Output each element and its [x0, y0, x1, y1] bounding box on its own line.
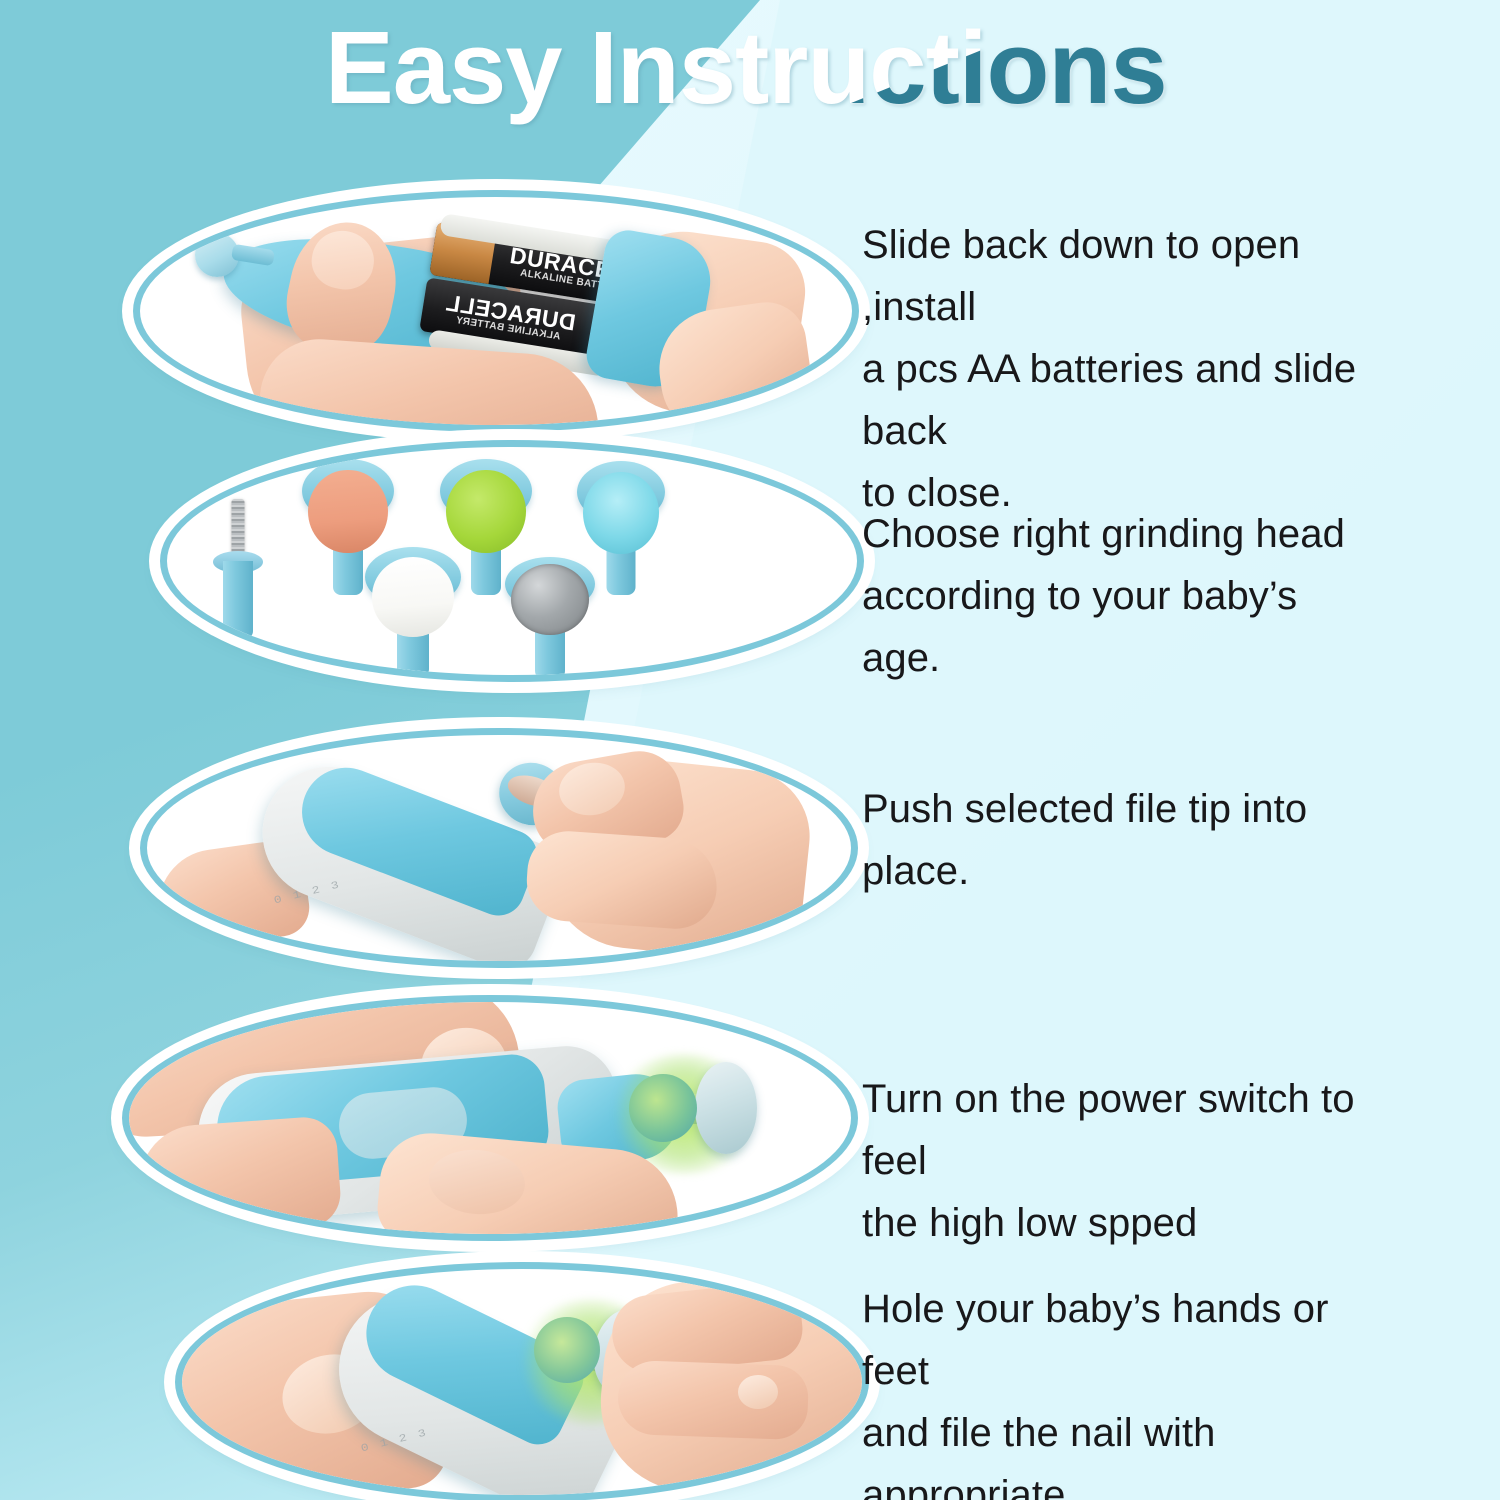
head-disc-surface	[372, 557, 455, 636]
baby-finger-2	[617, 1360, 809, 1441]
step-4-oval	[122, 995, 858, 1241]
grinding-head-polish-disc-white	[365, 547, 461, 675]
step-1-oval: DURACELL ALKALINE BATTERY DURACELL ALKAL…	[133, 190, 859, 432]
spinning-tip-inner	[629, 1074, 697, 1142]
step-1-line-2: a pcs AA batteries and slide back	[862, 338, 1382, 462]
step-3-panel: 0 1 2 3	[140, 728, 844, 954]
step-1-photo: DURACELL ALKALINE BATTERY DURACELL ALKAL…	[140, 197, 852, 425]
spinning-tip-disc	[695, 1062, 757, 1154]
palm-left	[135, 1115, 342, 1234]
step-3-oval: 0 1 2 3	[140, 728, 858, 968]
step-3-text: Push selected file tip into place.	[862, 778, 1382, 902]
step-3-photo: 0 1 2 3	[147, 735, 851, 961]
step-2-panel	[160, 440, 850, 668]
step-2-line-1: Choose right grinding head	[862, 503, 1382, 565]
step-5-text: Hole your baby’s hands or feet and file …	[862, 1278, 1382, 1500]
step-1-line-1: Slide back down to open ,install	[862, 214, 1382, 338]
step-4-text: Turn on the power switch to feel the hig…	[862, 1068, 1382, 1254]
step-2-line-2: according to your baby’s age.	[862, 565, 1382, 689]
step-1-panel: DURACELL ALKALINE BATTERY DURACELL ALKAL…	[133, 190, 845, 418]
head-disc-surface	[308, 470, 387, 554]
step-4-line-1: Turn on the power switch to feel	[862, 1068, 1382, 1192]
step-2-photo	[167, 447, 857, 675]
step-1-text: Slide back down to open ,install a pcs A…	[862, 214, 1382, 524]
infographic-page: Easy Instructions Easy Instructions DURA…	[0, 0, 1500, 1500]
step-4-line-2: the high low spped	[862, 1192, 1382, 1254]
grinding-head-grit-disc-silver	[505, 557, 595, 675]
step-2-text: Choose right grinding head according to …	[862, 503, 1382, 689]
step-4-panel	[122, 995, 844, 1227]
step-5-photo: 0 1 2 3	[182, 1269, 862, 1495]
head-disc-surface	[583, 472, 659, 554]
step-2-oval	[160, 440, 864, 682]
page-title: Easy Instructions Easy Instructions	[0, 8, 1500, 138]
step-3-line-1: Push selected file tip into place.	[862, 778, 1382, 902]
baby-fingernail	[738, 1375, 778, 1409]
step-5-line-1: Hole your baby’s hands or feet	[862, 1278, 1382, 1402]
step-5-oval: 0 1 2 3	[175, 1262, 869, 1500]
diamond-bit-stem	[223, 561, 253, 639]
step-4-photo	[129, 1002, 851, 1234]
grinding-head-diamond-bit	[211, 499, 265, 641]
step-5-panel: 0 1 2 3	[175, 1262, 855, 1488]
spinning-tip-inner	[534, 1317, 600, 1383]
head-disc-surface	[511, 564, 588, 635]
step-5-line-2: and file the nail with appropriate	[862, 1402, 1382, 1500]
middle-finger	[524, 828, 720, 931]
head-disc-surface	[446, 470, 525, 554]
